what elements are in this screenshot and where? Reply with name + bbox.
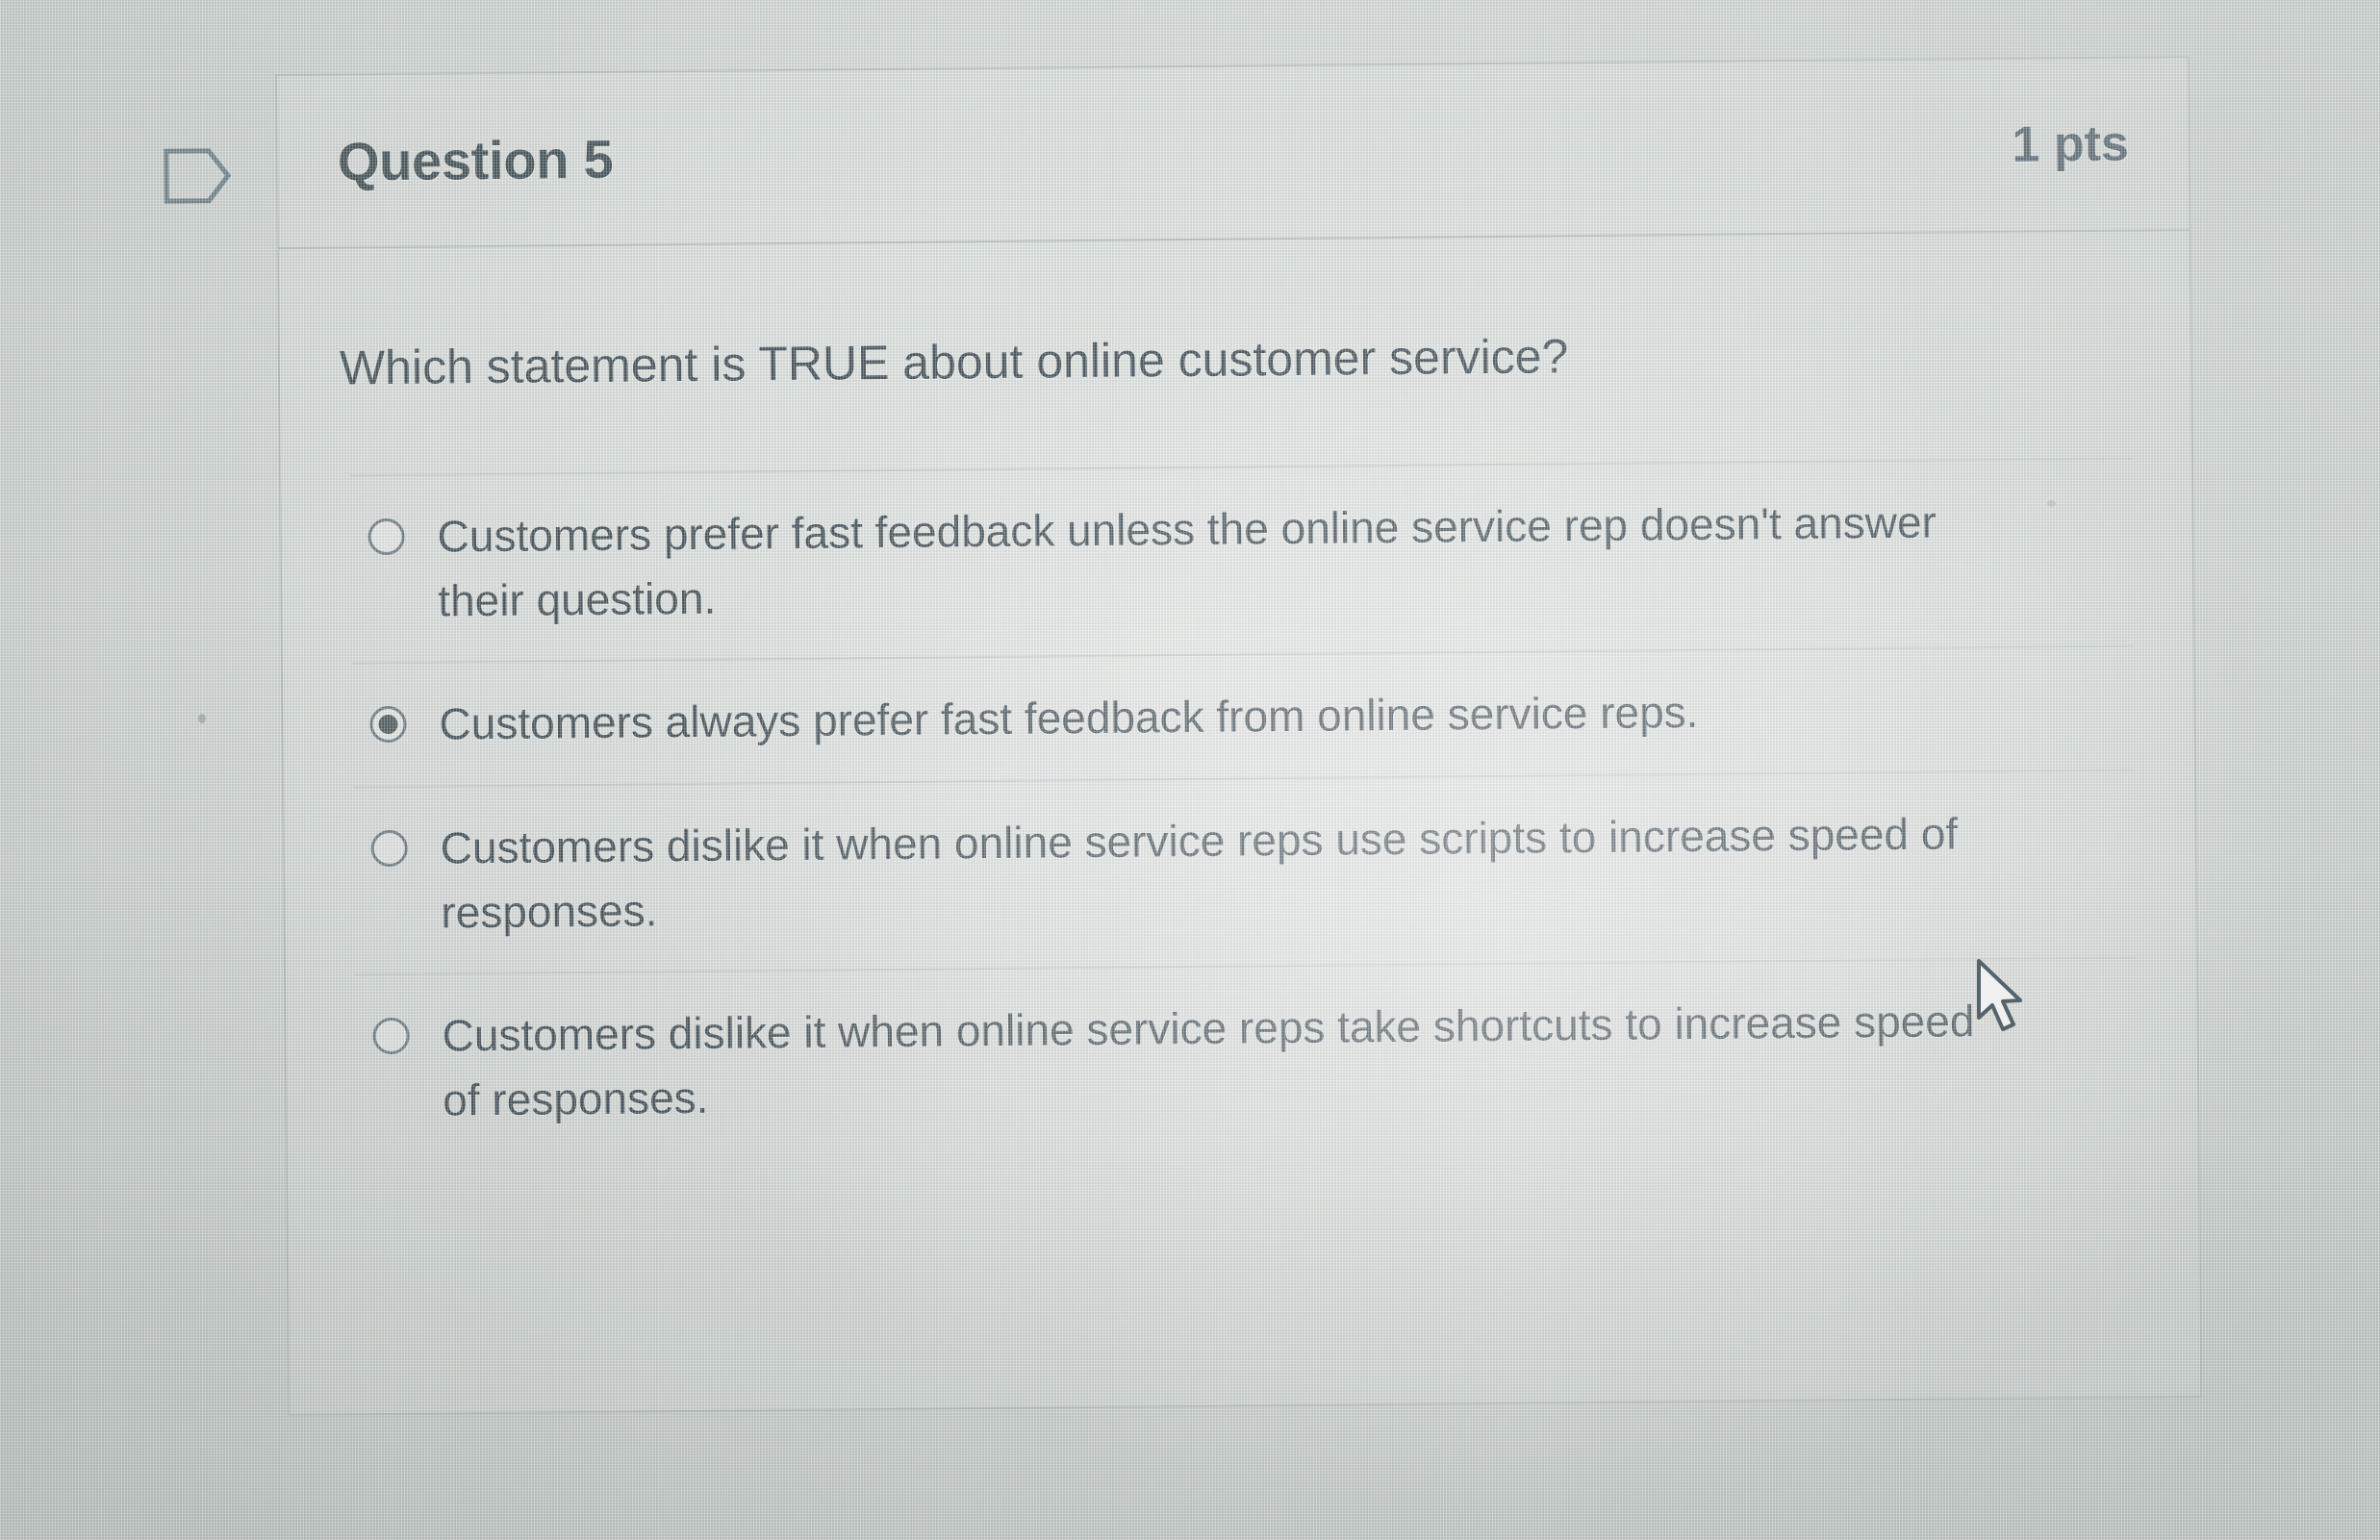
answer-label-4: Customers dislike it when online service… [442, 989, 2020, 1132]
answer-option-2[interactable]: Customers always prefer fast feedback fr… [352, 647, 2135, 788]
radio-button-1[interactable] [367, 518, 404, 555]
question-points-label: 1 pts [2012, 115, 2129, 174]
answer-option-3[interactable]: Customers dislike it when online service… [353, 771, 2137, 976]
radio-button-3[interactable] [371, 830, 408, 867]
question-card-header: Question 5 1 pts [277, 58, 2190, 249]
question-card: Question 5 1 pts Which statement is TRUE… [275, 56, 2202, 1416]
mouse-cursor-icon [1974, 958, 2026, 1037]
dust-speck [2047, 500, 2056, 507]
answer-list: Customers prefer fast feedback unless th… [350, 458, 2139, 1163]
question-block: Question 5 1 pts Which statement is TRUE… [0, 0, 2380, 1540]
radio-button-4[interactable] [372, 1018, 409, 1054]
answer-option-4[interactable]: Customers dislike it when online service… [355, 959, 2139, 1162]
flag-outline-icon[interactable] [163, 146, 233, 207]
answer-label-1: Customers prefer fast feedback unless th… [437, 490, 2015, 633]
radio-button-2[interactable] [369, 706, 406, 743]
dust-speck [731, 544, 738, 551]
question-prompt: Which statement is TRUE about online cus… [340, 320, 2132, 400]
dust-speck [198, 714, 206, 723]
question-number-label: Question 5 [338, 127, 614, 192]
screen-photo: Question 5 1 pts Which statement is TRUE… [0, 0, 2380, 1540]
answer-option-1[interactable]: Customers prefer fast feedback unless th… [350, 460, 2134, 665]
answer-label-3: Customers dislike it when online service… [440, 801, 2018, 945]
question-card-body: Which statement is TRUE about online cus… [279, 231, 2198, 1163]
answer-label-2: Customers always prefer fast feedback fr… [439, 680, 1699, 756]
